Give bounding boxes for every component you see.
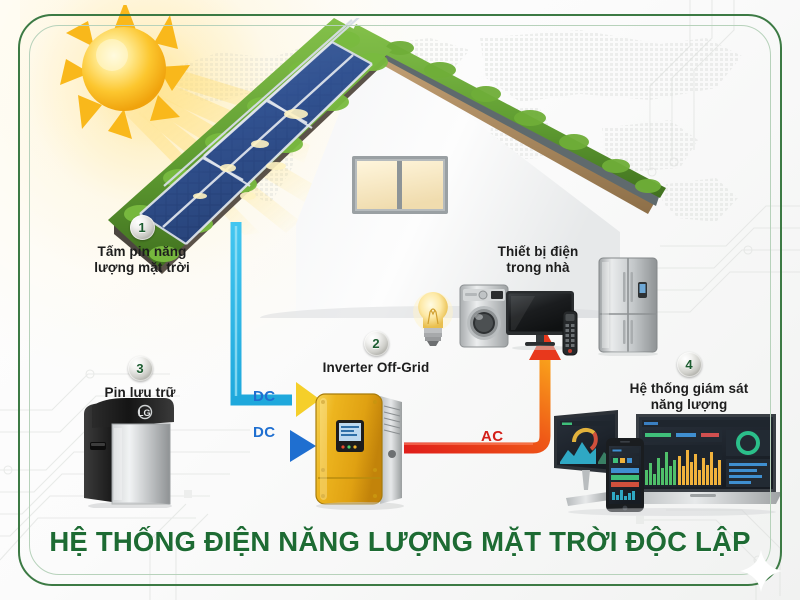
step-badge-4: 4 (677, 352, 702, 377)
label-monitoring: 4 Hệ thống giám sát năng lượng (604, 352, 774, 414)
monitoring-devices-icon (552, 408, 782, 516)
label-line-2: trong nhà (458, 260, 618, 276)
laptop (624, 414, 782, 504)
label-line-1: Hệ thống giám sát (604, 381, 774, 397)
flow-label-ac: AC (481, 428, 503, 445)
svg-text:LG: LG (138, 408, 151, 418)
flow-label-dc-battery: DC (253, 424, 275, 441)
flow-label-dc-panels: DC (253, 388, 275, 405)
dc-flow-battery-to-inverter (176, 430, 316, 462)
inverter-icon (310, 392, 410, 510)
smartphone (606, 438, 644, 512)
label-home-appliances: Thiết bị điện trong nhà (458, 244, 618, 277)
label-line-2: năng lượng (604, 397, 774, 413)
label-line-2: lượng mặt trời (72, 260, 212, 276)
infographic-canvas: LG (0, 0, 800, 600)
label-line-1: Inverter Off-Grid (296, 360, 456, 376)
washing-machine-icon (458, 283, 510, 349)
battery-storage-icon: LG (78, 398, 182, 508)
label-solar-panels: 1 Tấm pin năng lượng mặt trời (72, 215, 212, 277)
house-window (352, 156, 448, 214)
page-title: HỆ THỐNG ĐIỆN NĂNG LƯỢNG MẶT TRỜI ĐỘC LẬ… (0, 526, 800, 558)
label-line-1: Tấm pin năng (72, 244, 212, 260)
label-inverter: 2 Inverter Off-Grid (296, 331, 456, 376)
label-line-1: Thiết bị điện (458, 244, 618, 260)
step-badge-3: 3 (128, 356, 153, 381)
step-badge-2: 2 (364, 331, 389, 356)
remote-control-icon (560, 310, 580, 356)
label-battery: 3 Pin lưu trữ (72, 356, 208, 401)
step-badge-1: 1 (130, 215, 155, 240)
label-line-1: Pin lưu trữ (72, 385, 208, 401)
